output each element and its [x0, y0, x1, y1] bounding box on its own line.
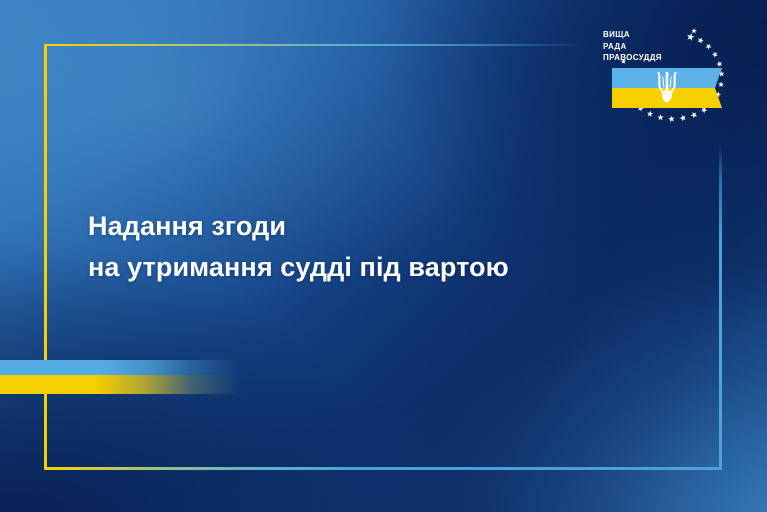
page-title: Надання згоди на утримання судді під вар… [88, 206, 509, 288]
frame-line-top [44, 44, 589, 46]
frame-line-left [44, 44, 47, 470]
ukrainian-trident-icon [655, 70, 679, 104]
frame-line-bottom [44, 467, 722, 470]
accent-stripe-blue [0, 360, 240, 375]
organization-logo: ВИЩА РАДА ПРАВОСУДДЯ [597, 26, 747, 138]
frame-line-right [719, 146, 722, 470]
accent-stripe-yellow [0, 375, 240, 394]
slide-canvas: Надання згоди на утримання судді під вар… [0, 0, 767, 512]
organization-name: ВИЩА РАДА ПРАВОСУДДЯ [603, 29, 662, 64]
